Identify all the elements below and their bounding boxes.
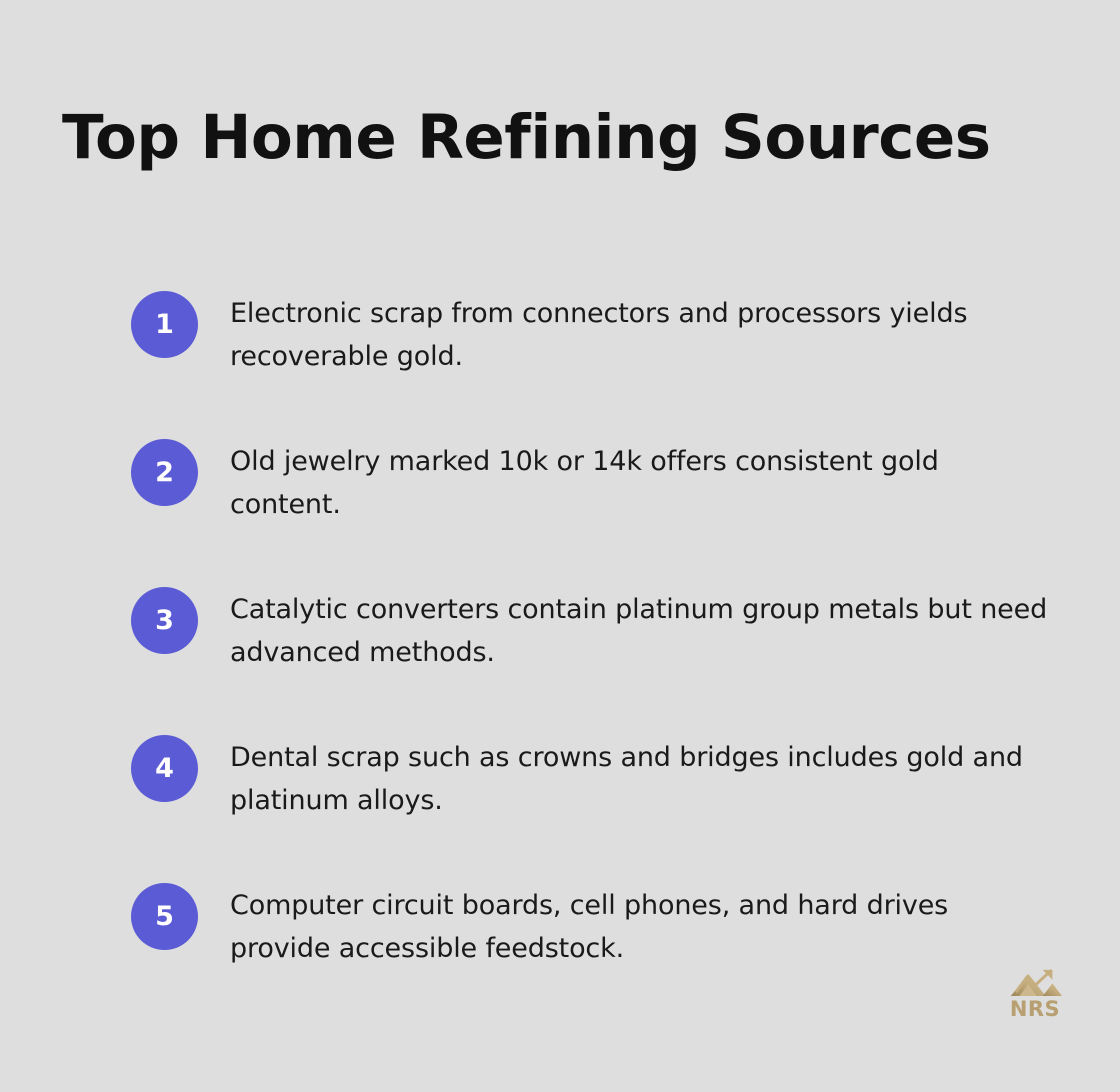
list-item-number: 2	[155, 459, 174, 486]
list-item: 1 Electronic scrap from connectors and p…	[131, 291, 1071, 378]
list-item: 3 Catalytic converters contain platinum …	[131, 587, 1071, 674]
list-item-badge: 3	[131, 587, 198, 654]
list-item-number: 4	[155, 755, 174, 782]
list-item-text: Catalytic converters contain platinum gr…	[230, 587, 1056, 674]
list-item-badge: 5	[131, 883, 198, 950]
logo-wordmark: NRS	[1010, 999, 1060, 1020]
page-title: Top Home Refining Sources	[62, 104, 1062, 172]
infographic-canvas: Top Home Refining Sources 1 Electronic s…	[0, 0, 1120, 1092]
list-item-badge: 1	[131, 291, 198, 358]
numbered-list: 1 Electronic scrap from connectors and p…	[131, 291, 1071, 970]
list-item-text: Dental scrap such as crowns and bridges …	[230, 735, 1056, 822]
list-item-number: 5	[155, 903, 174, 930]
list-item: 4 Dental scrap such as crowns and bridge…	[131, 735, 1071, 822]
list-item: 2 Old jewelry marked 10k or 14k offers c…	[131, 439, 1071, 526]
list-item-number: 3	[155, 607, 174, 634]
list-item-badge: 2	[131, 439, 198, 506]
list-item-text: Computer circuit boards, cell phones, an…	[230, 883, 1056, 970]
list-item: 5 Computer circuit boards, cell phones, …	[131, 883, 1071, 970]
list-item-number: 1	[155, 311, 174, 338]
mountain-growth-arrow-icon	[1006, 968, 1064, 997]
list-item-text: Old jewelry marked 10k or 14k offers con…	[230, 439, 1056, 526]
brand-logo: NRS	[1002, 968, 1068, 1020]
list-item-badge: 4	[131, 735, 198, 802]
list-item-text: Electronic scrap from connectors and pro…	[230, 291, 1056, 378]
